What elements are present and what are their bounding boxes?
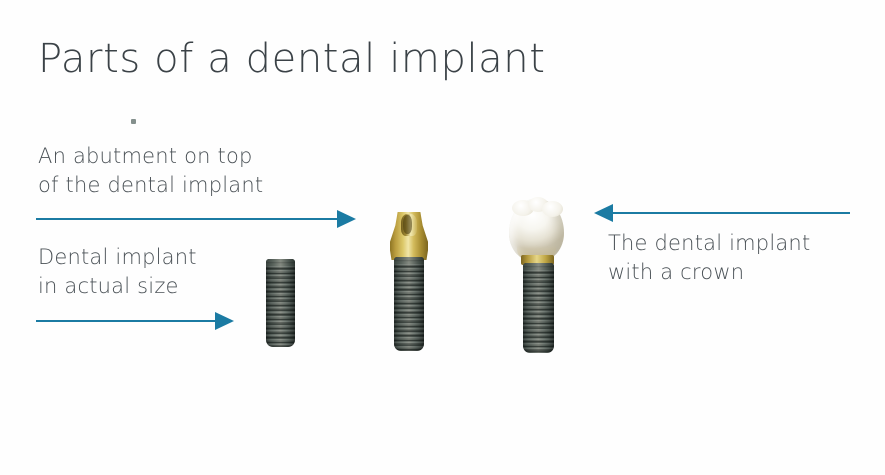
arrow-to-crown-icon [594,204,850,222]
caption-abutment: An abutment on top of the dental implant [38,142,263,200]
illustration-canvas: Parts of a dental implant An abutment on… [0,0,885,475]
arrow-head [594,204,613,222]
crown-cusp [542,201,563,217]
implant-screw-body [394,257,424,351]
implant-screw-body [523,263,554,353]
arrow-head [215,312,234,330]
arrow-to-implant-icon [36,312,234,330]
caption-crown: The dental implant with a crown [608,229,810,287]
gold-abutment [390,212,428,260]
ceramic-crown [509,199,564,261]
caption-actual-size: Dental implant in actual size [38,243,197,301]
arrow-head [337,210,356,228]
implant-screw-body [266,259,295,347]
arrow-shaft [610,212,850,214]
abutment-bore-shadow [403,215,413,234]
arrow-shaft [36,320,218,322]
scan-speck [131,119,136,124]
arrow-to-abutment-icon [36,210,356,228]
arrow-shaft [36,218,340,220]
page-title: Parts of a dental implant [38,36,546,82]
